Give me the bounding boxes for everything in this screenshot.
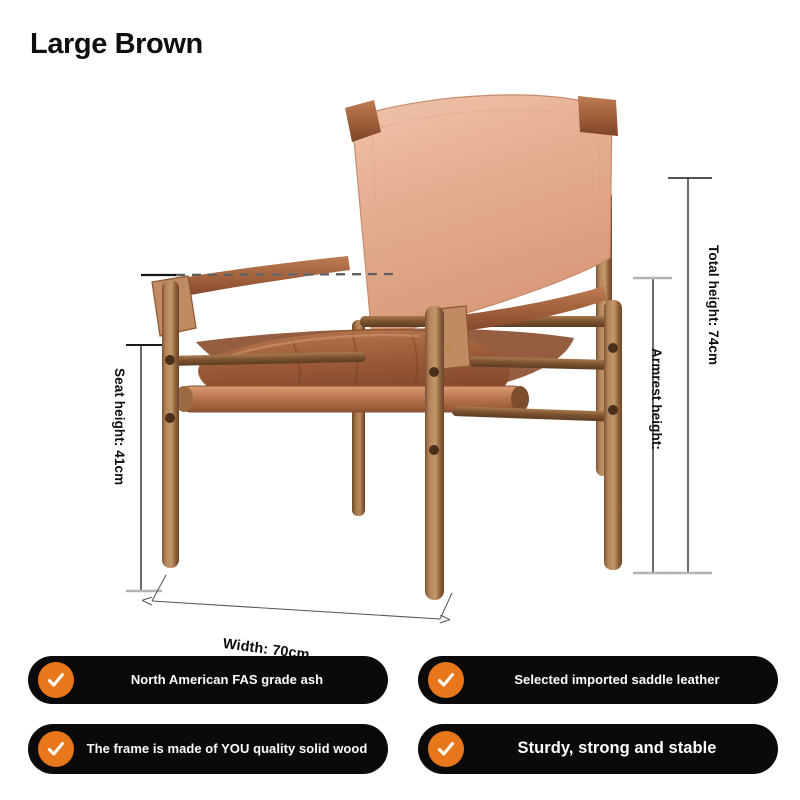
dimension-label-total-height: Total height: 74cm — [706, 245, 721, 365]
feature-badge-list: North American FAS grade ash Selected im… — [0, 650, 800, 790]
chair-armrest-left — [152, 256, 350, 336]
feature-badge: Selected imported saddle leather — [418, 656, 778, 704]
chair-front-leg-left — [162, 280, 179, 568]
dimension-width — [152, 575, 452, 619]
feature-badge-label: North American FAS grade ash — [74, 672, 388, 687]
chair-rear-leg-right-near — [604, 300, 622, 570]
chair-backrest-top-strap-right — [578, 96, 618, 136]
product-illustration: Total height: 74cm Armrest height: Seat … — [0, 70, 800, 640]
chair-side-rail-right-lower — [452, 406, 618, 422]
chair-graphic — [152, 95, 622, 600]
chair-front-leg-right — [425, 306, 444, 600]
dimension-label-armrest-height: Armrest height: — [649, 348, 664, 450]
feature-badge-label: Sturdy, strong and stable — [464, 739, 778, 758]
feature-badge: The frame is made of YOU quality solid w… — [28, 724, 388, 774]
feature-badge-label: Selected imported saddle leather — [464, 672, 778, 687]
product-spec-sheet: Large Brown — [0, 0, 800, 800]
page-title: Large Brown — [30, 28, 203, 61]
dimension-total-height — [666, 178, 712, 573]
check-icon — [428, 731, 464, 767]
check-icon — [428, 662, 464, 698]
feature-badge: North American FAS grade ash — [28, 656, 388, 704]
dimension-label-seat-height: Seat height: 41cm — [112, 368, 127, 485]
feature-badge-label: The frame is made of YOU quality solid w… — [74, 741, 388, 756]
feature-badge: Sturdy, strong and stable — [418, 724, 778, 774]
dimension-seat-height — [126, 345, 162, 591]
check-icon — [38, 731, 74, 767]
check-icon — [38, 662, 74, 698]
